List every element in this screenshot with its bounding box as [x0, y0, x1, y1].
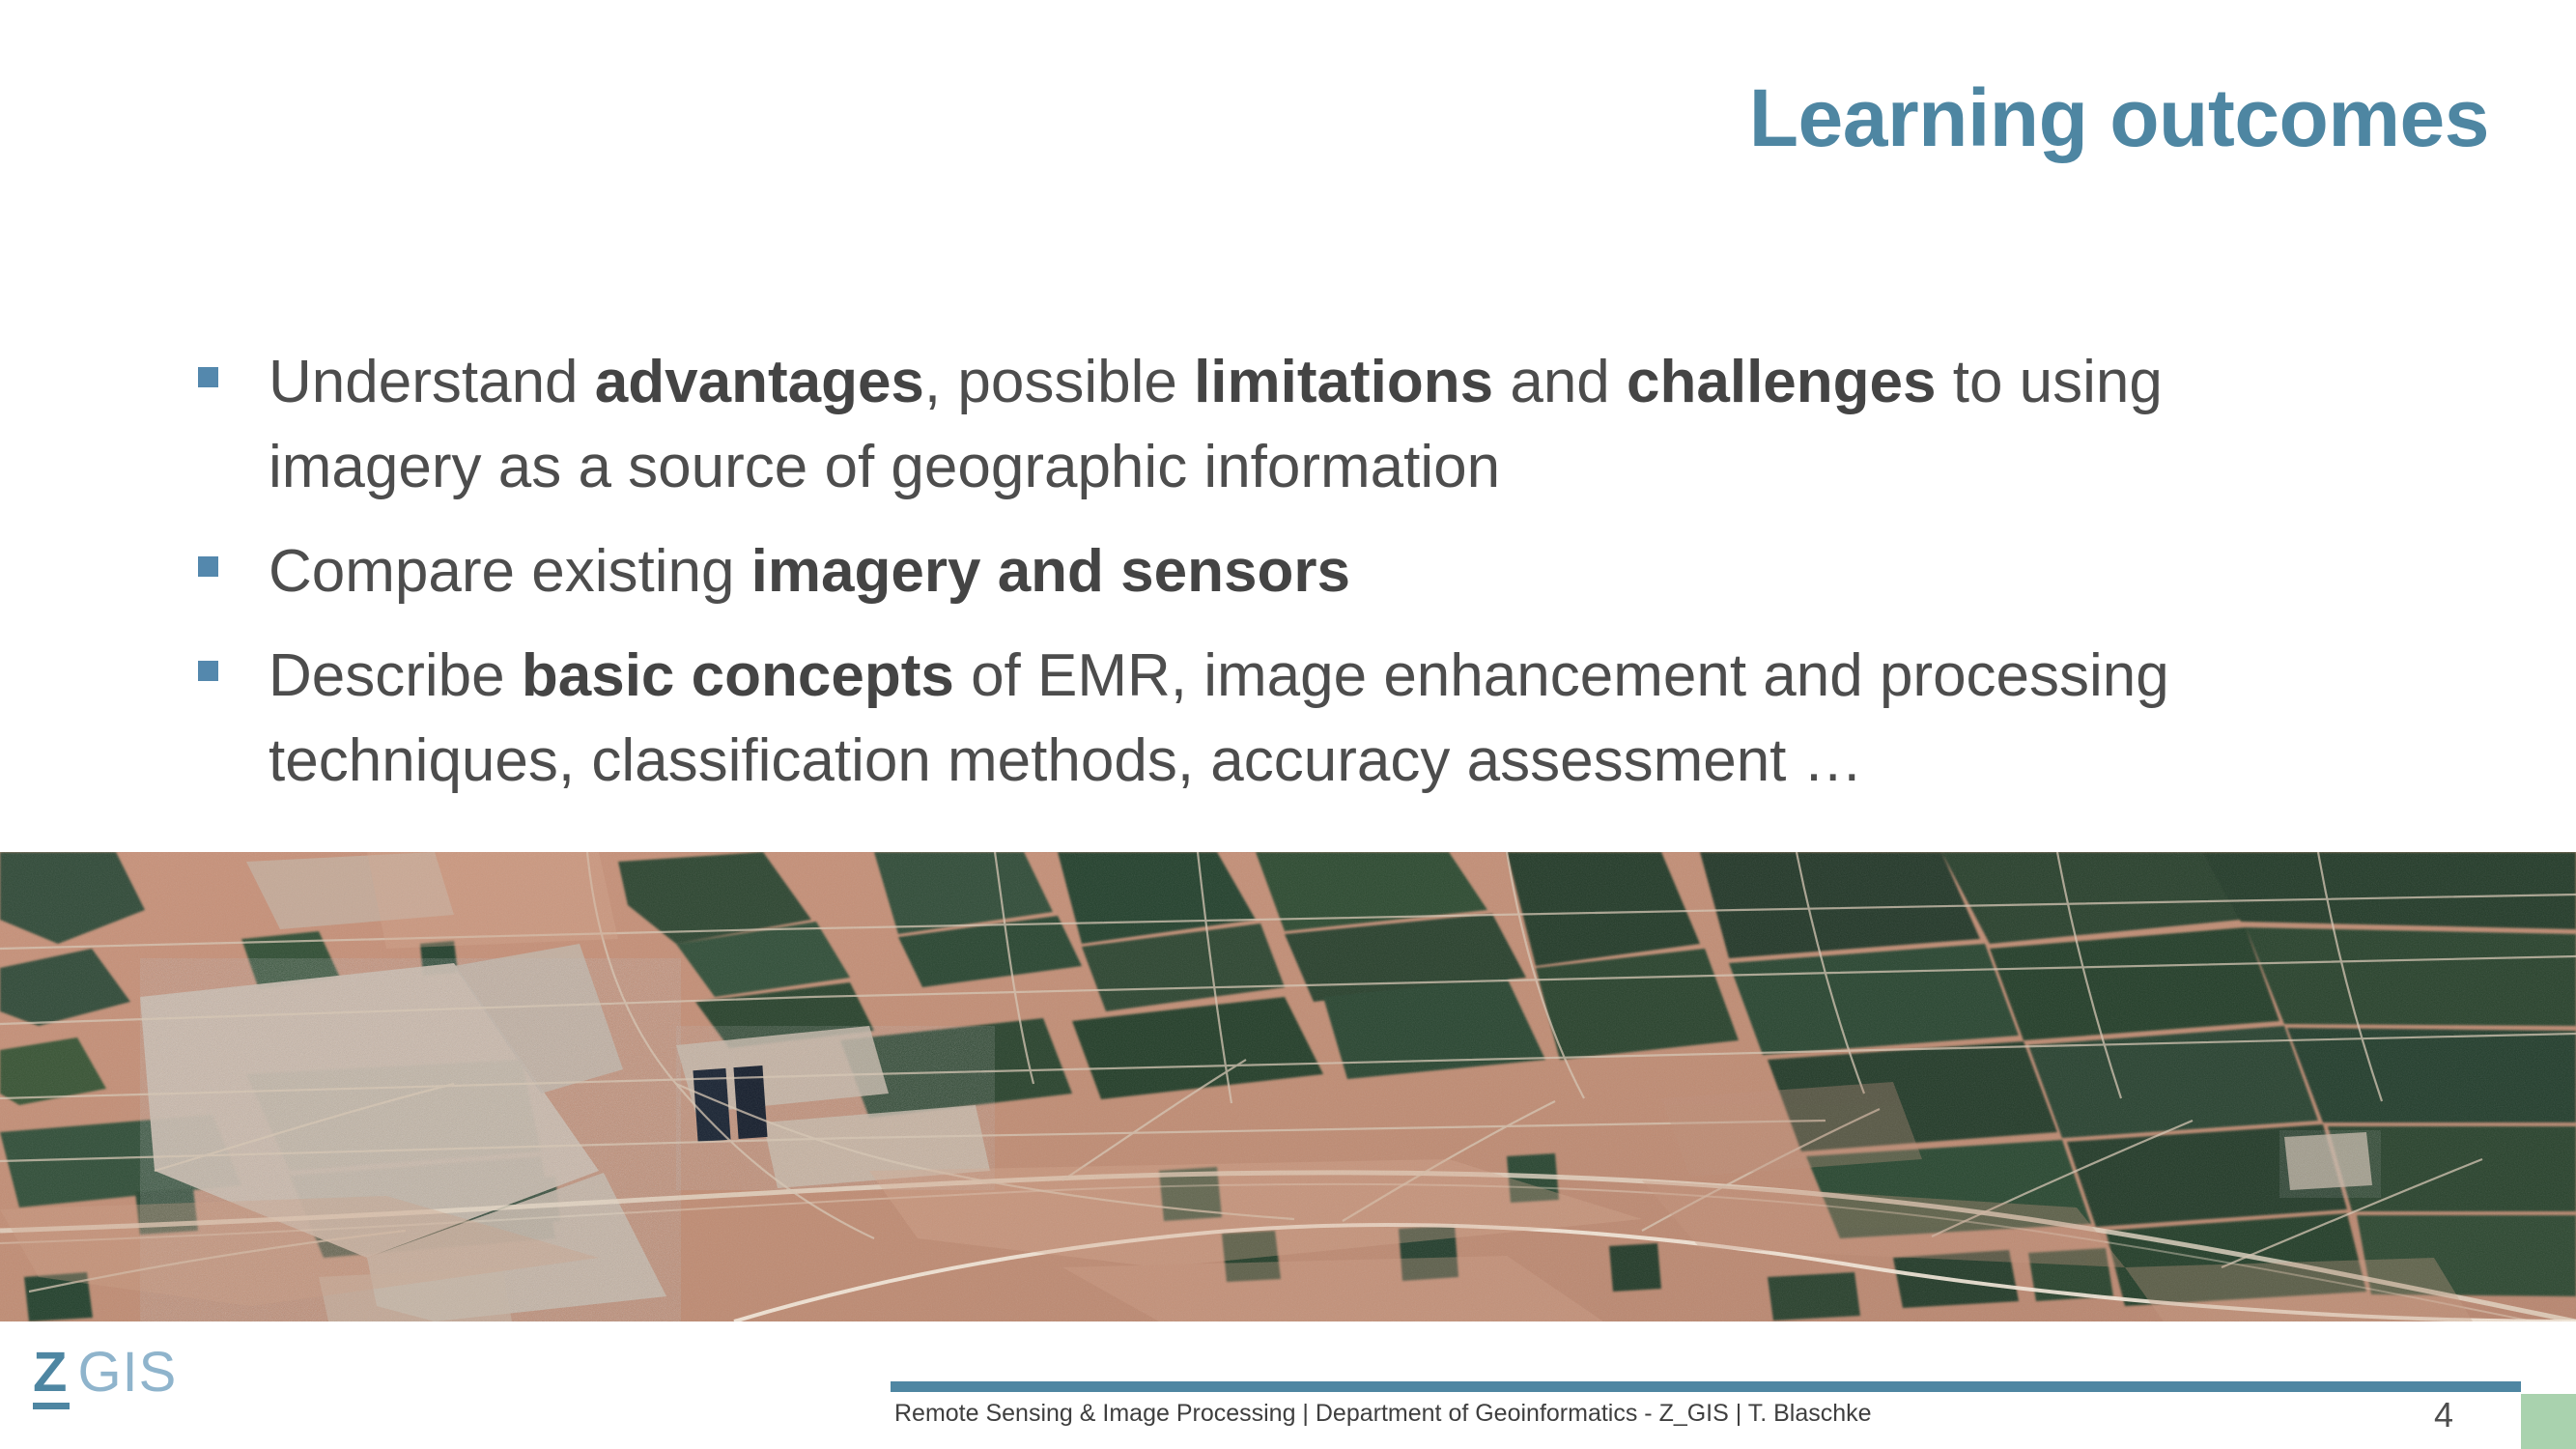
satellite-image-graphic — [0, 852, 2576, 1321]
footer-accent-block — [2521, 1394, 2576, 1449]
page-number: 4 — [2415, 1395, 2473, 1435]
slide-title: Learning outcomes — [1749, 75, 2489, 160]
logo-gis-letters: GIS — [77, 1341, 177, 1404]
bullet-list: Understand advantages, possible limitati… — [198, 340, 2391, 823]
footer-text: Remote Sensing & Image Processing | Depa… — [894, 1400, 1872, 1428]
list-item: Describe basic concepts of EMR, image en… — [198, 634, 2391, 804]
zgis-logo: ZGIS — [33, 1345, 177, 1409]
logo-z-letter: Z — [33, 1345, 70, 1409]
bullet-text-1: Understand advantages, possible limitati… — [269, 340, 2391, 510]
bullet-text-3: Describe basic concepts of EMR, image en… — [269, 634, 2391, 804]
list-item: Understand advantages, possible limitati… — [198, 340, 2391, 510]
presentation-slide: Learning outcomes Understand advantages,… — [0, 0, 2576, 1449]
list-item: Compare existing imagery and sensors — [198, 529, 2391, 614]
square-bullet-icon — [198, 367, 218, 387]
footer-divider-bar — [891, 1381, 2521, 1392]
bullet-text-2: Compare existing imagery and sensors — [269, 529, 2391, 614]
square-bullet-icon — [198, 661, 218, 681]
satellite-image — [0, 852, 2576, 1321]
square-bullet-icon — [198, 556, 218, 577]
